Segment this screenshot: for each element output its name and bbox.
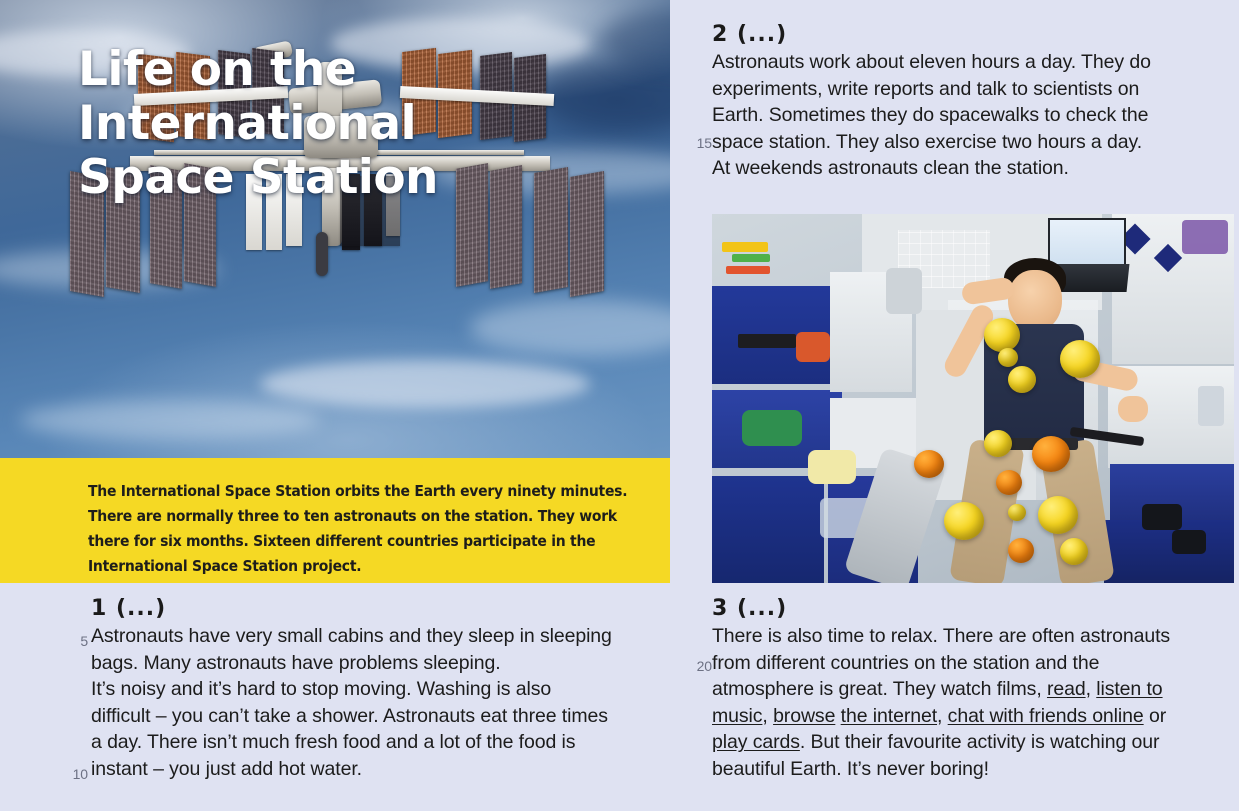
left-column: Life on the International Space Station … — [0, 0, 670, 811]
paragraph-3-segment-1: atmosphere is great. They watch films, — [712, 678, 1047, 700]
paragraph-1-line-6: instant – you just add hot water. — [91, 758, 362, 780]
activity-link-listen-to-music-part-1[interactable]: listen to — [1096, 678, 1162, 700]
line-number-20: 20 — [686, 653, 712, 680]
fruit-orange — [1032, 436, 1070, 472]
line-number-10: 10 — [62, 761, 88, 788]
paragraph-2-body: 15 Astronauts work about eleven hours a … — [712, 49, 1206, 182]
paragraph-3-segment-8: beautiful Earth. It’s never boring! — [712, 758, 989, 780]
paragraph-3-segment-7: . But their favourite activity is watchi… — [800, 731, 1160, 753]
page-title: Life on the International Space Station — [78, 43, 668, 204]
fruit-lemon — [1060, 340, 1100, 378]
right-column: 2 (...) 15 Astronauts work about eleven … — [686, 0, 1239, 811]
paragraph-1-heading: 1 (...) — [91, 596, 662, 621]
astronaut-juggling-fruit-photo — [712, 214, 1234, 583]
paragraph-1-line-5: a day. There isn’t much fresh food and a… — [91, 731, 575, 753]
fact-box: The International Space Station orbits t… — [0, 458, 670, 583]
paragraph-1-line-2: bags. Many astronauts have problems slee… — [91, 652, 501, 674]
paragraph-1-line-4: difficult – you can’t take a shower. Ast… — [91, 705, 608, 727]
paragraph-2: 2 (...) 15 Astronauts work about eleven … — [686, 22, 1206, 182]
activity-link-listen-to-music-part-2[interactable]: music — [712, 705, 762, 727]
fruit-orange — [914, 450, 944, 478]
paragraph-2-line-3: Earth. Sometimes they do spacewalks to c… — [712, 104, 1148, 126]
paragraph-2-line-5: At weekends astronauts clean the station… — [712, 157, 1069, 179]
page-title-line-1: Life on the International — [78, 42, 416, 151]
paragraph-3-segment-6: or — [1144, 705, 1166, 727]
paragraph-1-body: 5 10 Astronauts have very small cabins a… — [91, 623, 662, 783]
fruit-lemon — [1008, 504, 1026, 521]
paragraph-1: 1 (...) 5 10 Astronauts have very small … — [62, 596, 662, 783]
paragraph-3-heading: 3 (...) — [712, 596, 1211, 621]
line-number-15: 15 — [686, 130, 712, 157]
paragraph-3-body: 20 There is also time to relax. There ar… — [712, 623, 1211, 783]
fact-box-text: The International Space Station orbits t… — [88, 479, 648, 579]
paragraph-3-segment-3: , — [762, 705, 773, 727]
fruit-lemon — [984, 430, 1012, 457]
activity-link-chat-with-friends-online[interactable]: chat with friends online — [948, 705, 1144, 727]
line-number-5: 5 — [62, 628, 88, 655]
paragraph-1-line-3: It’s noisy and it’s hard to stop moving.… — [91, 678, 551, 700]
activity-link-read[interactable]: read — [1047, 678, 1086, 700]
activity-link-browse-the-internet-part-2[interactable]: the internet — [841, 705, 937, 727]
fruit-lemon — [1060, 538, 1088, 565]
paragraph-3-line-2: from different countries on the station … — [712, 652, 1099, 674]
paragraph-3: 3 (...) 20 There is also time to relax. … — [686, 596, 1211, 783]
iss-over-earth-photo: Life on the International Space Station — [0, 0, 670, 458]
fruit-lemon — [998, 348, 1018, 367]
fruit-orange — [1008, 538, 1034, 563]
activity-link-play-cards[interactable]: play cards — [712, 731, 800, 753]
laptop-icon — [1048, 218, 1126, 268]
textbook-page: Life on the International Space Station … — [0, 0, 1239, 811]
fruit-lemon — [944, 502, 984, 540]
activity-link-browse-the-internet-part-1[interactable]: browse — [773, 705, 835, 727]
paragraph-1-line-1: Astronauts have very small cabins and th… — [91, 625, 612, 647]
paragraph-3-segment-2: , — [1086, 678, 1097, 700]
paragraph-2-line-2: experiments, write reports and talk to s… — [712, 78, 1139, 100]
paragraph-2-line-4: space station. They also exercise two ho… — [712, 131, 1142, 153]
fruit-lemon — [984, 318, 1020, 352]
paragraph-3-segment-5: , — [937, 705, 948, 727]
fruit-orange — [996, 470, 1022, 495]
paragraph-3-line-1: There is also time to relax. There are o… — [712, 625, 1170, 647]
paragraph-2-line-1: Astronauts work about eleven hours a day… — [712, 51, 1151, 73]
paragraph-2-heading: 2 (...) — [712, 22, 1206, 47]
fruit-lemon — [1008, 366, 1036, 393]
page-title-line-2: Space Station — [78, 150, 438, 205]
fruit-lemon — [1038, 496, 1078, 534]
